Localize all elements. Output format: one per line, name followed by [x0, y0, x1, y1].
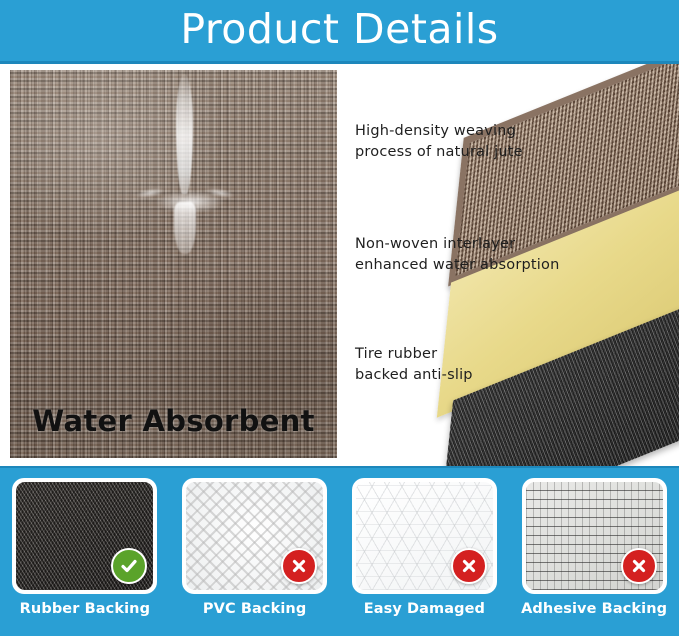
- callout-tire-rubber-backing: Tire rubber backed anti-slip: [355, 344, 473, 386]
- check-icon: [111, 548, 147, 584]
- water-absorbent-caption: Water Absorbent: [10, 404, 337, 438]
- callout-non-woven-interlayer: Non-woven interlayer enhanced water abso…: [355, 234, 559, 276]
- backing-comparison-row: Rubber Backing PVC Backing: [0, 478, 679, 617]
- swatch-frame: [522, 478, 667, 594]
- swatch-embossed: [356, 482, 493, 590]
- comparison-card-rubber-backing[interactable]: Rubber Backing: [11, 478, 159, 617]
- jute-rug-water-splash-photo: Water Absorbent: [10, 70, 337, 458]
- page-title: Product Details: [180, 9, 498, 53]
- backing-comparison-band: Rubber Backing PVC Backing: [0, 466, 679, 636]
- product-detail-section: Water Absorbent High-density weaving pro…: [0, 64, 679, 466]
- comparison-label: Easy Damaged: [364, 601, 485, 617]
- comparison-label: Adhesive Backing: [521, 601, 667, 617]
- cross-icon: [281, 548, 317, 584]
- cross-icon: [621, 548, 657, 584]
- comparison-card-adhesive-backing[interactable]: Adhesive Backing: [520, 478, 668, 617]
- comparison-label: Rubber Backing: [20, 601, 150, 617]
- swatch-adhesive: [526, 482, 663, 590]
- swatch-frame: [182, 478, 327, 594]
- swatch-pvc: [186, 482, 323, 590]
- swatch-frame: [352, 478, 497, 594]
- callout-high-density-weaving: High-density weaving process of natural …: [355, 121, 523, 163]
- comparison-label: PVC Backing: [203, 601, 306, 617]
- header-banner: Product Details: [0, 0, 679, 64]
- cross-icon: [451, 548, 487, 584]
- comparison-card-easy-damaged[interactable]: Easy Damaged: [350, 478, 498, 617]
- swatch-frame: [12, 478, 157, 594]
- comparison-card-pvc-backing[interactable]: PVC Backing: [181, 478, 329, 617]
- swatch-rubber: [16, 482, 153, 590]
- jute-lighting-overlay: [10, 70, 337, 458]
